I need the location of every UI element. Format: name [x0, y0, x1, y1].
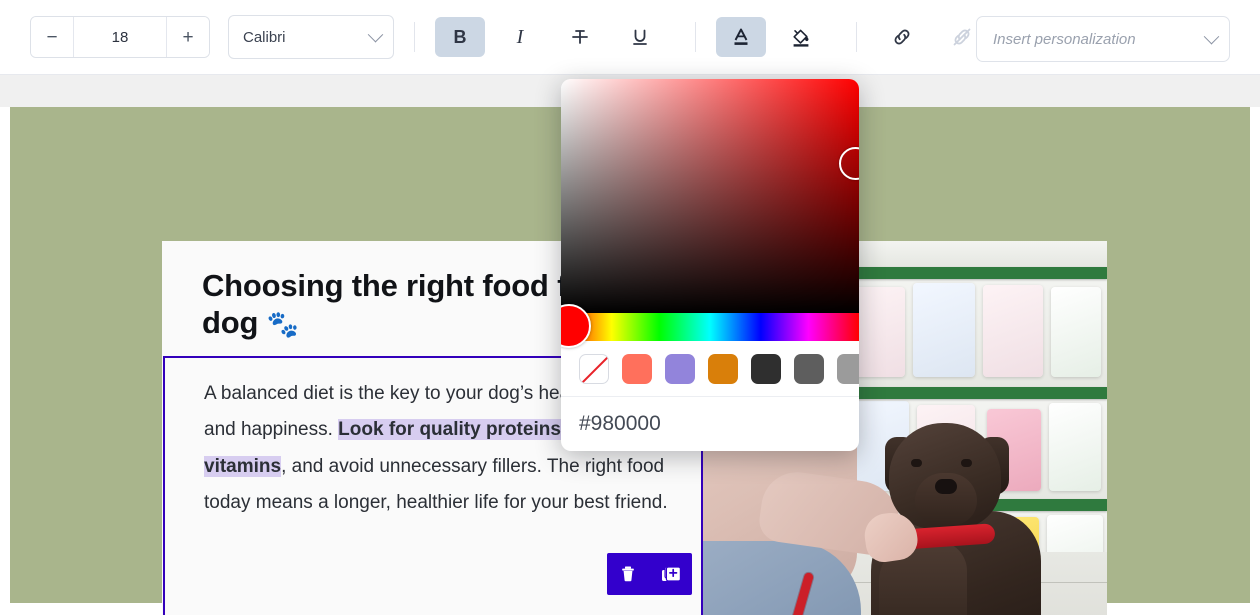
- font-family-select[interactable]: Calibri: [228, 15, 394, 59]
- block-actions-toolbar: [607, 553, 692, 595]
- italic-icon: I: [517, 27, 524, 47]
- product-bag: [983, 285, 1043, 377]
- duplicate-block-button[interactable]: [656, 559, 686, 589]
- text-color-a-icon: [730, 26, 752, 48]
- hex-input-row[interactable]: #980000: [561, 396, 859, 451]
- swatch-orange[interactable]: [708, 354, 738, 384]
- preset-swatch-row: [561, 341, 859, 396]
- toolbar-divider: [414, 22, 415, 52]
- paw-print-icon: 🐾: [267, 309, 299, 339]
- chevron-down-icon: [1204, 28, 1220, 44]
- product-bag: [913, 283, 975, 377]
- personalization-placeholder: Insert personalization: [993, 31, 1206, 48]
- dog-eye: [911, 459, 922, 467]
- swatch-gray[interactable]: [794, 354, 824, 384]
- italic-button[interactable]: I: [495, 17, 545, 57]
- swatch-light-gray[interactable]: [837, 354, 859, 384]
- swatch-no-color[interactable]: [579, 354, 609, 384]
- underline-icon: [630, 27, 650, 47]
- chevron-down-icon: [368, 26, 384, 42]
- color-picker-popover[interactable]: #980000: [561, 79, 859, 451]
- dog-eye: [961, 459, 972, 467]
- hex-value-input[interactable]: #980000: [579, 412, 661, 435]
- formatting-toolbar: − 18 + Calibri B I: [0, 0, 1260, 75]
- font-size-value[interactable]: 18: [74, 17, 166, 57]
- strikethrough-button[interactable]: [555, 17, 605, 57]
- duplicate-icon: [660, 564, 681, 585]
- saturation-value-handle[interactable]: [839, 147, 859, 180]
- swatch-purple[interactable]: [665, 354, 695, 384]
- product-bag: [1051, 287, 1101, 377]
- font-size-decrease-button[interactable]: −: [31, 17, 73, 57]
- saturation-value-area[interactable]: [561, 79, 859, 313]
- toolbar-divider: [695, 22, 696, 52]
- link-icon: [890, 25, 914, 49]
- toolbar-divider: [856, 22, 857, 52]
- bold-button[interactable]: B: [435, 17, 485, 57]
- highlight-color-button[interactable]: [776, 17, 826, 57]
- unlink-icon: [950, 25, 974, 49]
- dog-nose: [935, 479, 957, 494]
- hue-slider[interactable]: [561, 313, 859, 341]
- text-color-button[interactable]: [716, 17, 766, 57]
- delete-block-button[interactable]: [613, 559, 643, 589]
- strikethrough-icon: [570, 27, 590, 47]
- fill-bucket-icon: [790, 26, 812, 48]
- product-bag: [1049, 403, 1101, 491]
- insert-link-button[interactable]: [877, 17, 927, 57]
- font-family-value: Calibri: [243, 29, 370, 46]
- font-size-stepper[interactable]: − 18 +: [30, 16, 210, 58]
- swatch-coral[interactable]: [622, 354, 652, 384]
- trash-icon: [618, 564, 638, 584]
- swatch-charcoal[interactable]: [751, 354, 781, 384]
- insert-personalization-select[interactable]: Insert personalization: [976, 16, 1230, 62]
- font-size-increase-button[interactable]: +: [167, 17, 209, 57]
- bold-icon: B: [454, 28, 467, 46]
- email-editor-app: − 18 + Calibri B I: [0, 0, 1260, 615]
- underline-button[interactable]: [615, 17, 665, 57]
